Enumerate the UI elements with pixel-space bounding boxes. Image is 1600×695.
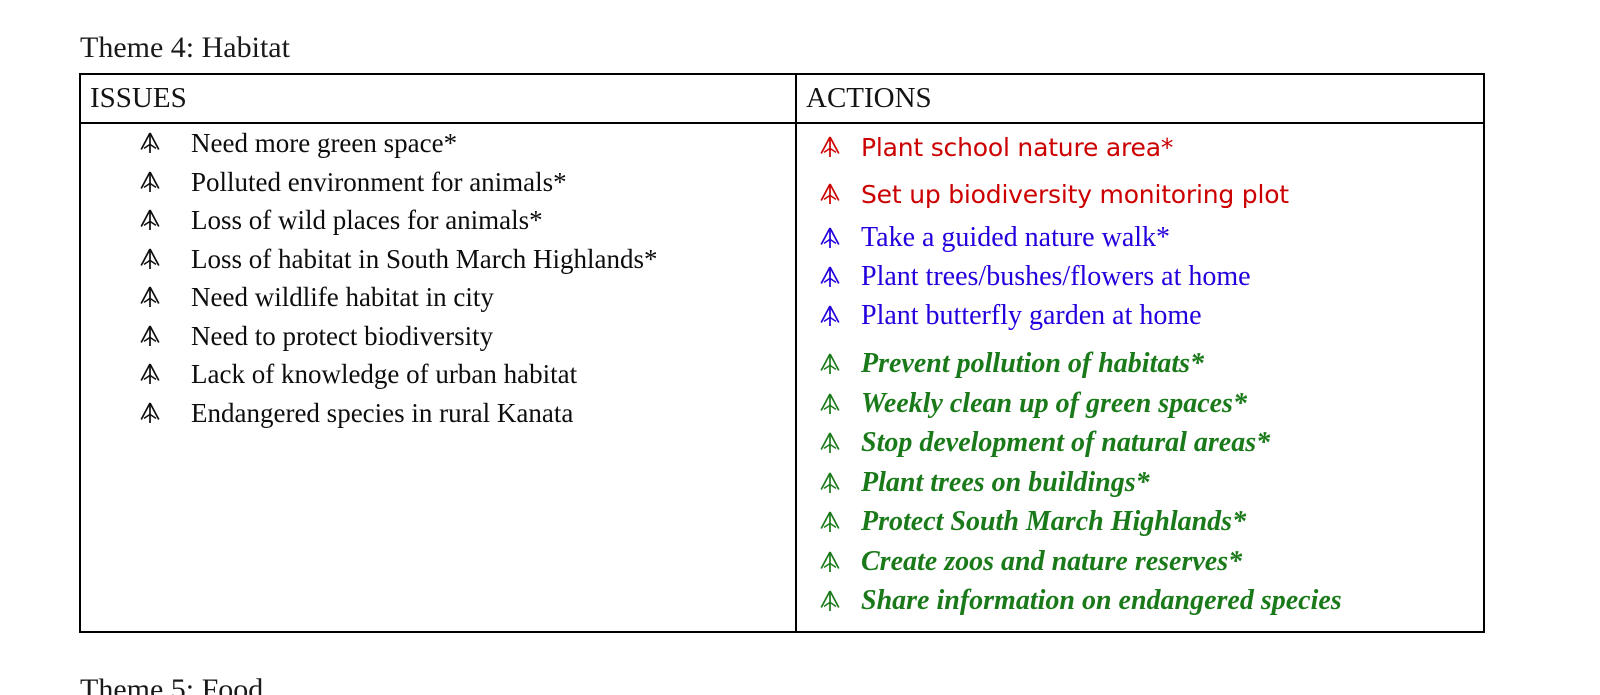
list-item-label: Prevent pollution of habitats* xyxy=(861,348,1204,379)
issues-list: Need more green space*Polluted environme… xyxy=(81,124,795,432)
list-item-label: Stop development of natural areas* xyxy=(861,427,1270,458)
list-item-label: Protect South March Highlands* xyxy=(861,506,1246,537)
tree-bullet-icon xyxy=(139,363,161,385)
list-item: Share information on endangered species xyxy=(797,581,1483,621)
list-item-label: Share information on endangered species xyxy=(861,585,1342,616)
list-item: Polluted environment for animals* xyxy=(81,163,795,202)
list-item-label: Take a guided nature walk* xyxy=(861,222,1170,253)
list-item: Lack of knowledge of urban habitat xyxy=(81,355,795,394)
tree-bullet-icon xyxy=(819,432,841,454)
list-item-label: Plant school nature area* xyxy=(861,133,1173,162)
list-item: Need to protect biodiversity xyxy=(81,317,795,356)
tree-bullet-icon xyxy=(139,248,161,270)
body-cell-actions: Plant school nature area*Set up biodiver… xyxy=(796,123,1484,632)
list-item-label: Plant trees/bushes/flowers at home xyxy=(861,261,1251,292)
column-header-actions: ACTIONS xyxy=(797,75,1483,122)
table-body-row: Need more green space*Polluted environme… xyxy=(80,123,1484,632)
list-item: Need wildlife habitat in city xyxy=(81,278,795,317)
list-item-label: Polluted environment for animals* xyxy=(191,167,567,197)
list-item-label: Plant butterfly garden at home xyxy=(861,300,1202,331)
tree-bullet-icon xyxy=(819,353,841,375)
list-item-label: Need to protect biodiversity xyxy=(191,321,493,351)
list-item-label: Endangered species in rural Kanata xyxy=(191,398,573,428)
list-item-label: Lack of knowledge of urban habitat xyxy=(191,359,577,389)
list-item: Take a guided nature walk* xyxy=(797,218,1483,257)
document-page: Theme 4: Habitat ISSUES ACTIONS Need mor… xyxy=(0,0,1600,695)
tree-bullet-icon xyxy=(819,551,841,573)
list-item: Stop development of natural areas* xyxy=(797,423,1483,463)
list-item-label: Loss of habitat in South March Highlands… xyxy=(191,244,657,274)
list-item-label: Need wildlife habitat in city xyxy=(191,282,494,312)
tree-bullet-icon xyxy=(819,511,841,533)
tree-bullet-icon xyxy=(139,132,161,154)
list-item: Plant trees on buildings* xyxy=(797,463,1483,503)
header-cell-actions: ACTIONS xyxy=(796,74,1484,123)
tree-bullet-icon xyxy=(139,402,161,424)
tree-bullet-icon xyxy=(819,266,841,288)
actions-list: Plant school nature area*Set up biodiver… xyxy=(797,124,1483,621)
list-item-label: Create zoos and nature reserves* xyxy=(861,546,1242,577)
list-item: Prevent pollution of habitats* xyxy=(797,344,1483,384)
list-item-label: Set up biodiversity monitoring plot xyxy=(861,180,1289,209)
body-cell-issues: Need more green space*Polluted environme… xyxy=(80,123,796,632)
list-item: Endangered species in rural Kanata xyxy=(81,394,795,433)
list-item: Loss of wild places for animals* xyxy=(81,201,795,240)
list-item-label: Need more green space* xyxy=(191,128,457,158)
list-item: Protect South March Highlands* xyxy=(797,502,1483,542)
tree-bullet-icon xyxy=(819,136,841,158)
list-item: Plant school nature area* xyxy=(797,124,1483,171)
list-item-label: Loss of wild places for animals* xyxy=(191,205,543,235)
issues-actions-table: ISSUES ACTIONS Need more green space*Pol… xyxy=(79,73,1485,633)
list-item: Plant butterfly garden at home xyxy=(797,296,1483,335)
list-item: Create zoos and nature reserves* xyxy=(797,542,1483,582)
tree-bullet-icon xyxy=(819,183,841,205)
tree-bullet-icon xyxy=(139,171,161,193)
tree-bullet-icon xyxy=(819,590,841,612)
page-title: Theme 4: Habitat xyxy=(80,30,290,66)
tree-bullet-icon xyxy=(819,227,841,249)
tree-bullet-icon xyxy=(139,286,161,308)
tree-bullet-icon xyxy=(139,209,161,231)
list-item: Set up biodiversity monitoring plot xyxy=(797,171,1483,218)
tree-bullet-icon xyxy=(819,393,841,415)
next-theme-partial-title: Theme 5: Food xyxy=(80,672,263,695)
tree-bullet-icon xyxy=(139,325,161,347)
list-item: Need more green space* xyxy=(81,124,795,163)
table-header-row: ISSUES ACTIONS xyxy=(80,74,1484,123)
list-item: Plant trees/bushes/flowers at home xyxy=(797,257,1483,296)
tree-bullet-icon xyxy=(819,472,841,494)
list-item-label: Weekly clean up of green spaces* xyxy=(861,388,1247,419)
list-item: Loss of habitat in South March Highlands… xyxy=(81,240,795,279)
list-item-label: Plant trees on buildings* xyxy=(861,467,1150,498)
list-item: Weekly clean up of green spaces* xyxy=(797,384,1483,424)
tree-bullet-icon xyxy=(819,305,841,327)
header-cell-issues: ISSUES xyxy=(80,74,796,123)
column-header-issues: ISSUES xyxy=(81,75,795,122)
